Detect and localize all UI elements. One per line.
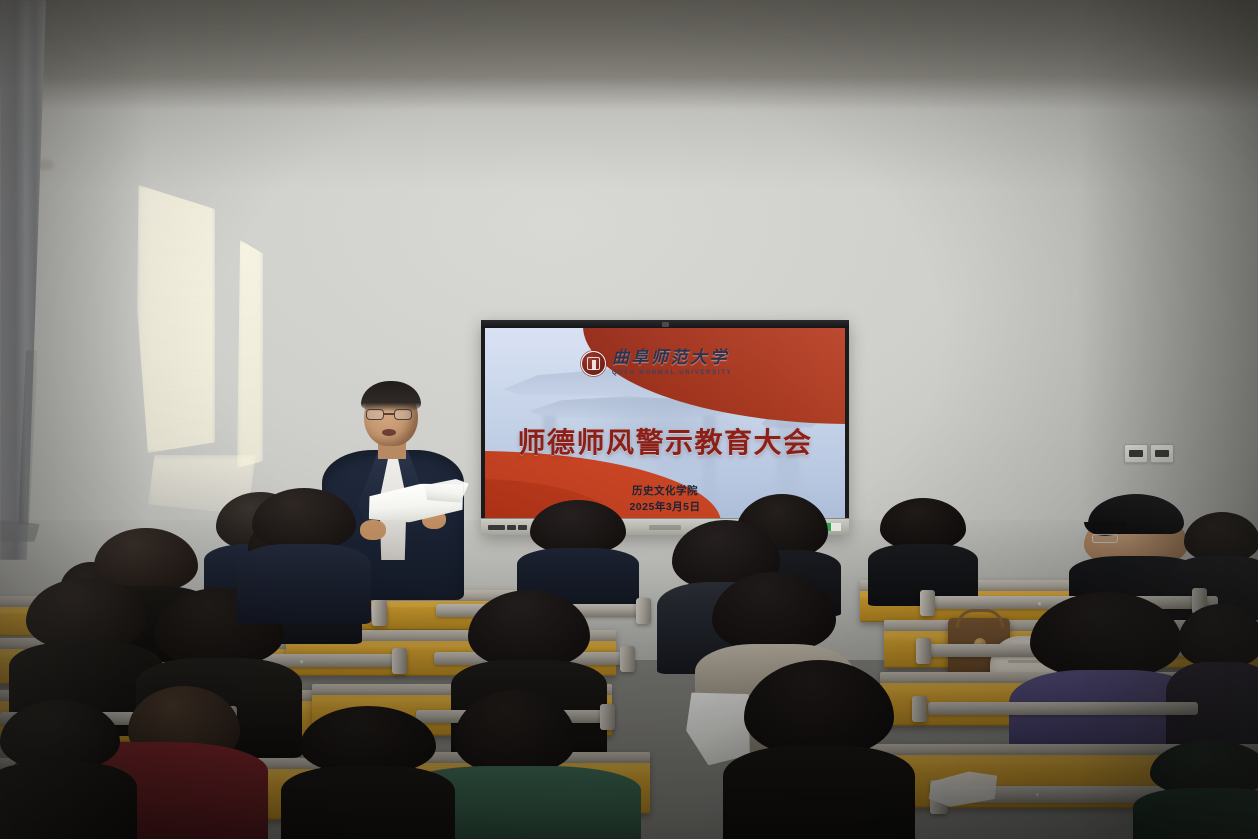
eyeglasses (1092, 534, 1118, 543)
torso (0, 762, 137, 839)
university-logo-text: 曲阜师范大学 QUFU NORMAL UNIVERSITY (612, 350, 732, 376)
rail-screw (300, 660, 304, 664)
head (300, 706, 436, 774)
desk-rail-post (620, 646, 635, 672)
university-name-en: QUFU NORMAL UNIVERSITY (612, 370, 732, 376)
torso (281, 766, 455, 839)
eyeglasses-bridge (384, 413, 394, 415)
head (712, 572, 836, 652)
slide-title: 师德师风警示教育大会 (485, 421, 845, 461)
head (252, 488, 356, 550)
attendee-r1-far-right-green (1150, 740, 1258, 839)
attendee-r1-center-dark (300, 706, 436, 839)
head (1184, 512, 1258, 562)
presenter-mouth (382, 429, 396, 436)
attendee-r1-dark-left (0, 700, 120, 839)
lecture-hall-photo: 曲阜师范大学 QUFU NORMAL UNIVERSITY 师德师风警示教育大会… (0, 0, 1258, 839)
head (530, 500, 626, 554)
menu-button-icon[interactable] (507, 525, 516, 530)
wall-upper-shadow (0, 0, 1258, 110)
attendee-front-of-presenter (252, 488, 356, 616)
university-name-cn: 曲阜师范大学 (612, 350, 732, 367)
desk-rail-row-1c (928, 702, 1198, 715)
presenter-hand-left (360, 520, 386, 540)
eyeglasses-lens-right (394, 409, 412, 420)
source-button-icon[interactable] (518, 525, 527, 530)
desk-rail-post (912, 696, 927, 722)
university-logo: 曲阜师范大学 QUFU NORMAL UNIVERSITY (581, 350, 732, 376)
display-top-bezel (481, 320, 849, 328)
desk-rail-post (392, 648, 407, 674)
presenter-hair (361, 381, 421, 412)
light-switch-plate-left[interactable] (1124, 444, 1148, 463)
torso (237, 544, 370, 624)
head (0, 700, 120, 770)
head (1178, 604, 1258, 668)
university-seal-icon (581, 351, 606, 376)
desk-rail-post (636, 598, 651, 624)
camera-icon (662, 322, 669, 327)
eyeglasses-lens-left (366, 409, 384, 420)
power-button-icon[interactable] (488, 525, 505, 530)
head (454, 690, 576, 774)
desk-rail-post (916, 638, 931, 664)
head (880, 498, 966, 550)
desk-rail-post (372, 600, 387, 626)
head (468, 590, 590, 668)
sunlight-patch-primary (137, 185, 215, 453)
desk-rail-post (920, 590, 935, 616)
indicator-blank-2 (831, 523, 841, 531)
attendee-r1-long-hair-right (744, 660, 894, 839)
head (26, 578, 146, 650)
sunlight-patch-secondary (237, 240, 263, 468)
torso (723, 746, 915, 839)
attendee-r4-dark-coat (880, 498, 966, 602)
head (1030, 592, 1182, 678)
light-switch-plate-right[interactable] (1150, 444, 1174, 463)
rail-screw (1036, 793, 1040, 797)
display-screen: 曲阜师范大学 QUFU NORMAL UNIVERSITY 师德师风警示教育大会… (485, 328, 845, 519)
torso (1133, 788, 1258, 839)
head (744, 660, 894, 756)
